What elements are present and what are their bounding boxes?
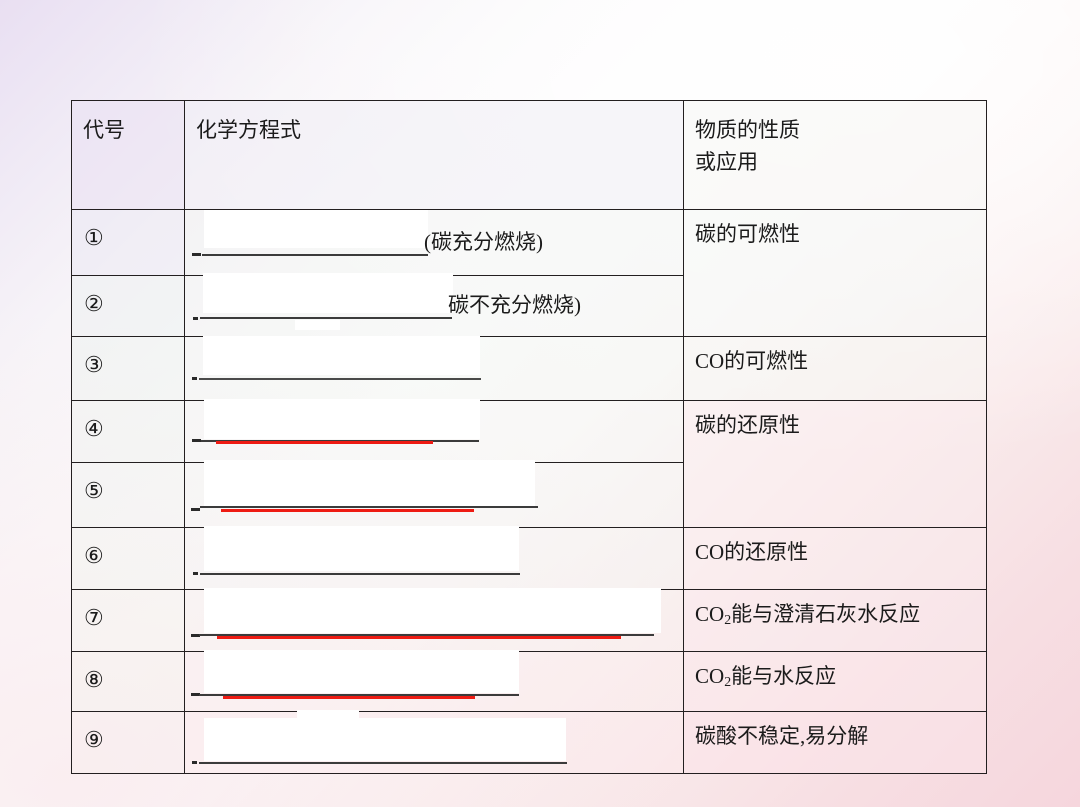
equation-mask [204, 210, 428, 248]
blank-lead-dash [192, 761, 197, 764]
equation-blank-area[interactable]: 碳不充分燃烧) [185, 276, 683, 336]
row-code-label: ② [72, 276, 184, 320]
row-code-cell: ⑦ [72, 590, 185, 652]
row-equation-cell[interactable] [185, 401, 684, 463]
row-code-cell: ③ [72, 337, 185, 401]
row-equation-cell[interactable] [185, 590, 684, 652]
header-cell-equation: 化学方程式 [185, 101, 684, 210]
row-code-label: ⑧ [72, 652, 184, 696]
answer-rule[interactable] [200, 317, 452, 319]
equation-mask [204, 526, 519, 571]
equation-trailing-note: 碳不充分燃烧) [448, 295, 581, 316]
correction-underline [216, 441, 433, 444]
answer-rule[interactable] [200, 506, 538, 508]
equation-mask [204, 718, 566, 761]
row-property-cell: CO的还原性 [684, 528, 987, 590]
equation-mask-lower [295, 320, 340, 330]
row-code-cell: ⑤ [72, 463, 185, 528]
equation-blank-area[interactable] [185, 590, 683, 651]
table-row: ① (碳充分燃烧) 碳的可燃性 [72, 210, 987, 276]
row-property-cell: 碳的还原性 [684, 401, 987, 528]
row-code-cell: ④ [72, 401, 185, 463]
row-property-cell: CO2能与澄清石灰水反应 [684, 590, 987, 652]
equation-blank-area[interactable] [185, 712, 683, 773]
blank-lead-dash [191, 508, 200, 511]
property-label: CO的还原性 [684, 528, 986, 567]
equation-mask [204, 399, 480, 439]
row-equation-cell[interactable] [185, 712, 684, 774]
row-code-label: ⑨ [72, 712, 184, 756]
table-row: ④ 碳的还原性 [72, 401, 987, 463]
equation-mask [204, 588, 661, 633]
row-code-cell: ⑧ [72, 652, 185, 712]
header-label-code: 代号 [72, 101, 184, 145]
correction-underline [217, 636, 621, 639]
equation-blank-area[interactable] [185, 337, 683, 400]
blank-lead-dash [192, 439, 201, 442]
row-property-cell: 碳酸不稳定,易分解 [684, 712, 987, 774]
header-label-property-line1: 物质的性质 [684, 101, 986, 145]
row-code-label: ③ [72, 337, 184, 381]
table-row: ③ CO的可燃性 [72, 337, 987, 401]
table-row: ⑨ 碳酸不稳定,易分解 [72, 712, 987, 774]
row-code-label: ⑤ [72, 463, 184, 507]
header-label-property-line2: 或应用 [684, 145, 986, 177]
blank-lead-dash [193, 317, 198, 320]
header-cell-code: 代号 [72, 101, 185, 210]
property-label: CO2能与澄清石灰水反应 [684, 590, 986, 629]
table-header-row: 代号 化学方程式 物质的性质 或应用 [72, 101, 987, 210]
equation-mask [203, 273, 453, 313]
row-equation-cell[interactable] [185, 652, 684, 712]
equation-mask [203, 336, 480, 375]
blank-lead-dash [192, 253, 201, 256]
table-row: ⑧ CO2能与水反应 [72, 652, 987, 712]
row-equation-cell[interactable]: (碳充分燃烧) [185, 210, 684, 276]
equation-blank-area[interactable]: (碳充分燃烧) [185, 210, 683, 275]
property-label: CO的可燃性 [684, 337, 986, 376]
table-row: ⑦ CO2能与澄清石灰水反应 [72, 590, 987, 652]
property-label: 碳的还原性 [684, 401, 986, 440]
answer-rule[interactable] [199, 378, 481, 380]
property-label: CO2能与水反应 [684, 652, 986, 691]
row-code-cell: ② [72, 276, 185, 337]
header-cell-property: 物质的性质 或应用 [684, 101, 987, 210]
row-equation-cell[interactable] [185, 337, 684, 401]
row-property-cell: CO的可燃性 [684, 337, 987, 401]
row-code-label: ④ [72, 401, 184, 445]
header-label-equation: 化学方程式 [185, 101, 683, 145]
blank-lead-dash [193, 572, 198, 575]
row-equation-cell[interactable] [185, 463, 684, 528]
row-code-label: ⑦ [72, 590, 184, 634]
correction-underline [223, 696, 475, 699]
equation-mask [204, 650, 519, 693]
chemical-equation-table: 代号 化学方程式 物质的性质 或应用 ① (碳充分燃烧) [71, 100, 987, 774]
blank-lead-dash [192, 377, 197, 380]
row-equation-cell[interactable]: 碳不充分燃烧) [185, 276, 684, 337]
row-property-cell: CO2能与水反应 [684, 652, 987, 712]
answer-rule[interactable] [200, 573, 520, 575]
equation-blank-area[interactable] [185, 652, 683, 711]
row-code-label: ① [72, 210, 184, 254]
row-property-cell: 碳的可燃性 [684, 210, 987, 337]
row-code-cell: ⑥ [72, 528, 185, 590]
row-code-cell: ⑨ [72, 712, 185, 774]
equation-blank-area[interactable] [185, 528, 683, 589]
answer-rule[interactable] [199, 762, 567, 764]
row-code-cell: ① [72, 210, 185, 276]
correction-underline [221, 509, 474, 512]
table-row: ⑥ CO的还原性 [72, 528, 987, 590]
equation-trailing-note: (碳充分燃烧) [424, 232, 543, 253]
equation-blank-area[interactable] [185, 401, 683, 462]
row-code-label: ⑥ [72, 528, 184, 572]
property-label: 碳酸不稳定,易分解 [684, 712, 986, 751]
equation-mask [204, 460, 535, 506]
property-label: 碳的可燃性 [684, 210, 986, 249]
row-equation-cell[interactable] [185, 528, 684, 590]
equation-blank-area[interactable] [185, 463, 683, 527]
answer-rule[interactable] [202, 254, 428, 256]
